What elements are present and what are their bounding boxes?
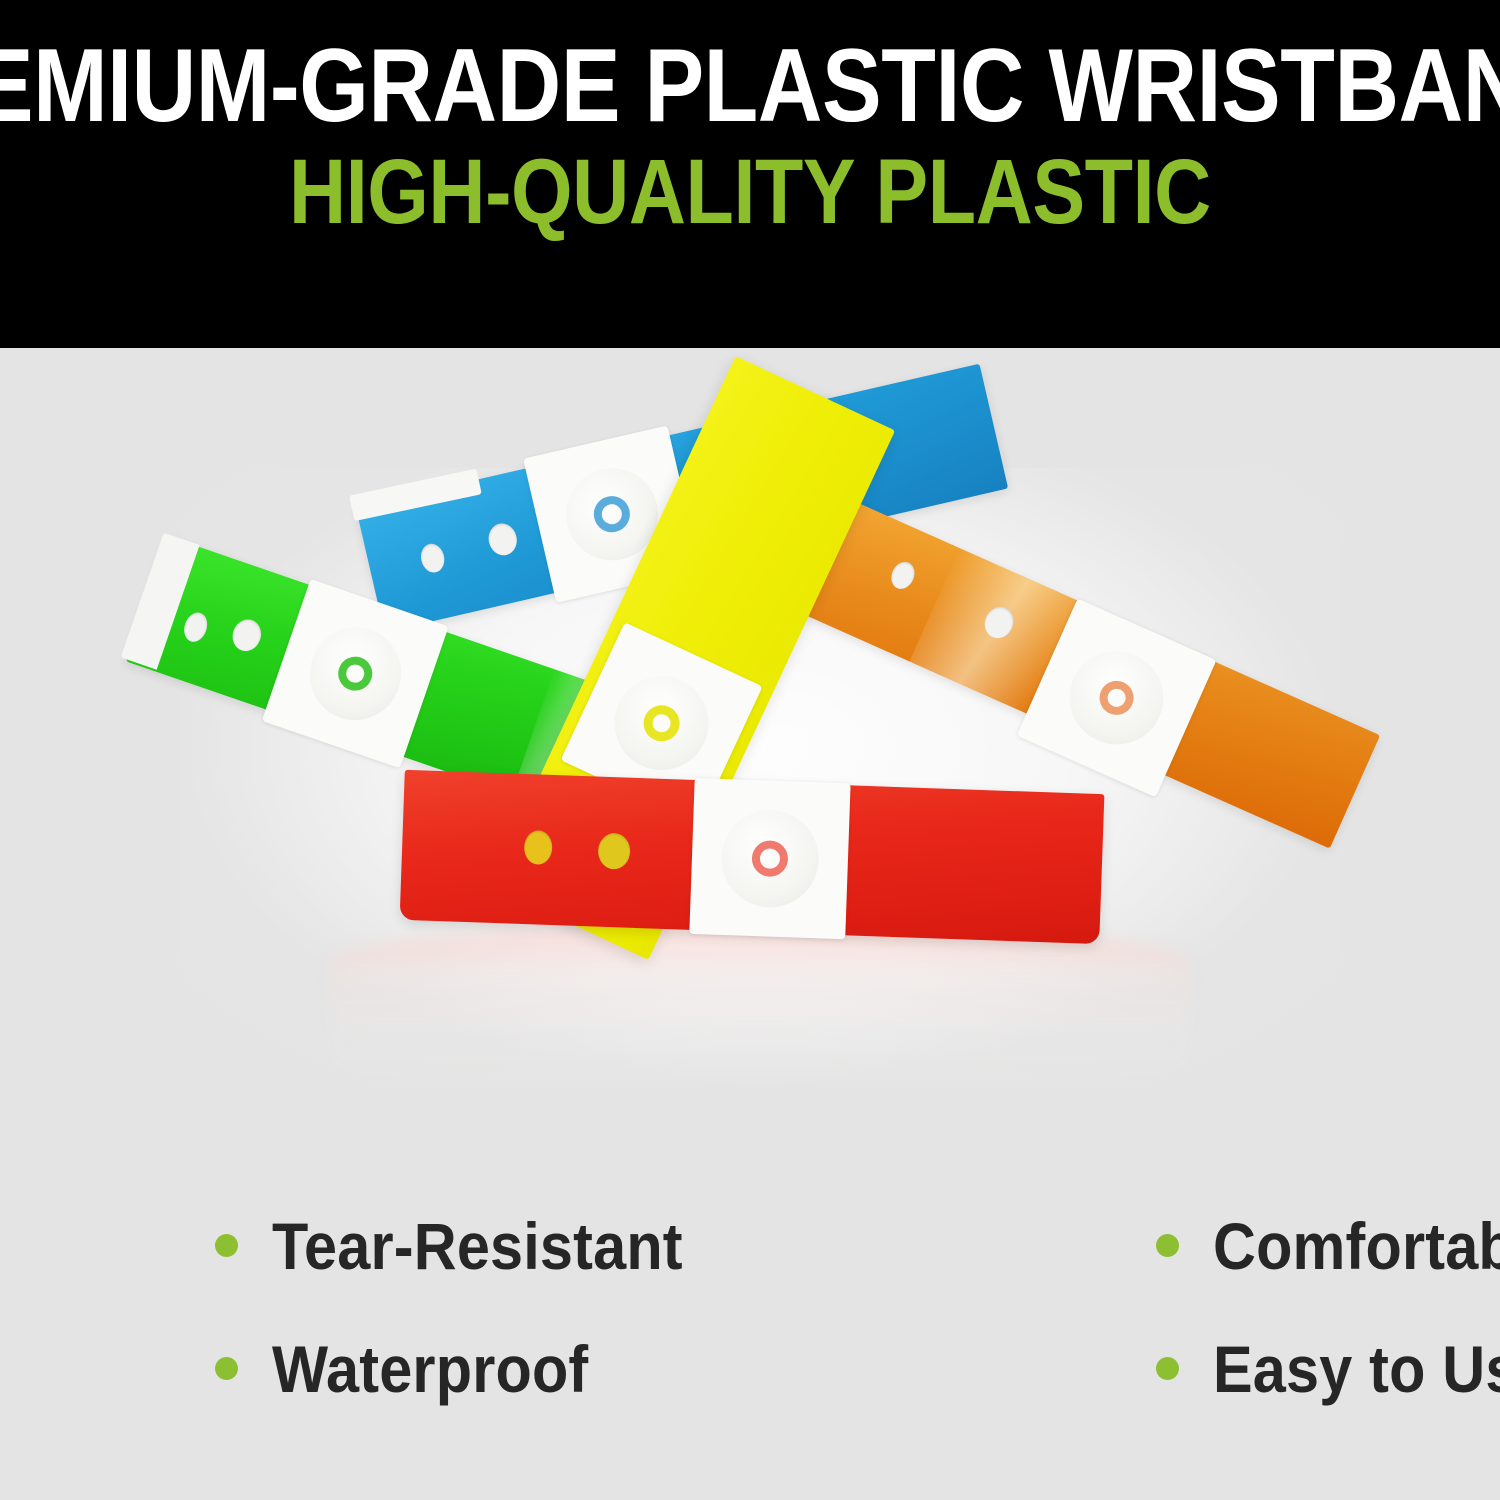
bullet-dot-icon	[1156, 1234, 1179, 1257]
feature-item-tear-resistant: Tear-Resistant	[215, 1213, 728, 1279]
red-wristband-snap-tab	[689, 778, 850, 939]
feature-list: Tear-Resistant Comfortable Waterproof Ea…	[0, 1148, 1500, 1500]
product-photo-inner	[0, 348, 1500, 1148]
product-photo	[0, 348, 1500, 1148]
feature-item-waterproof: Waterproof	[215, 1336, 728, 1402]
bullet-dot-icon	[215, 1357, 238, 1380]
feature-label-tear-resistant: Tear-Resistant	[272, 1213, 683, 1279]
header-banner: PREMIUM-GRADE PLASTIC WRISTBANDS HIGH-QU…	[0, 0, 1500, 348]
headline-secondary: HIGH-QUALITY PLASTIC	[289, 149, 1211, 236]
feature-item-comfortable: Comfortable	[728, 1213, 1500, 1279]
yellow-wristband-snap-ring	[638, 699, 686, 747]
feature-label-easy-to-use: Easy to Use	[1213, 1336, 1500, 1402]
product-infographic: PREMIUM-GRADE PLASTIC WRISTBANDS HIGH-QU…	[0, 0, 1500, 1500]
feature-label-waterproof: Waterproof	[272, 1336, 588, 1402]
red-wristband	[400, 770, 1105, 944]
feature-item-easy-to-use: Easy to Use	[728, 1336, 1500, 1402]
headline-primary: PREMIUM-GRADE PLASTIC WRISTBANDS	[0, 39, 1500, 135]
bullet-dot-icon	[215, 1234, 238, 1257]
surface-reflection	[330, 923, 1190, 1103]
feature-label-comfortable: Comfortable	[1213, 1213, 1500, 1279]
orange-wristband-snap-ring	[1094, 675, 1139, 720]
bullet-dot-icon	[1156, 1357, 1179, 1380]
blue-wristband-snap-ring	[590, 493, 633, 536]
green-wristband-snap-ring	[334, 652, 377, 695]
red-wristband-snap-ring	[751, 840, 788, 877]
